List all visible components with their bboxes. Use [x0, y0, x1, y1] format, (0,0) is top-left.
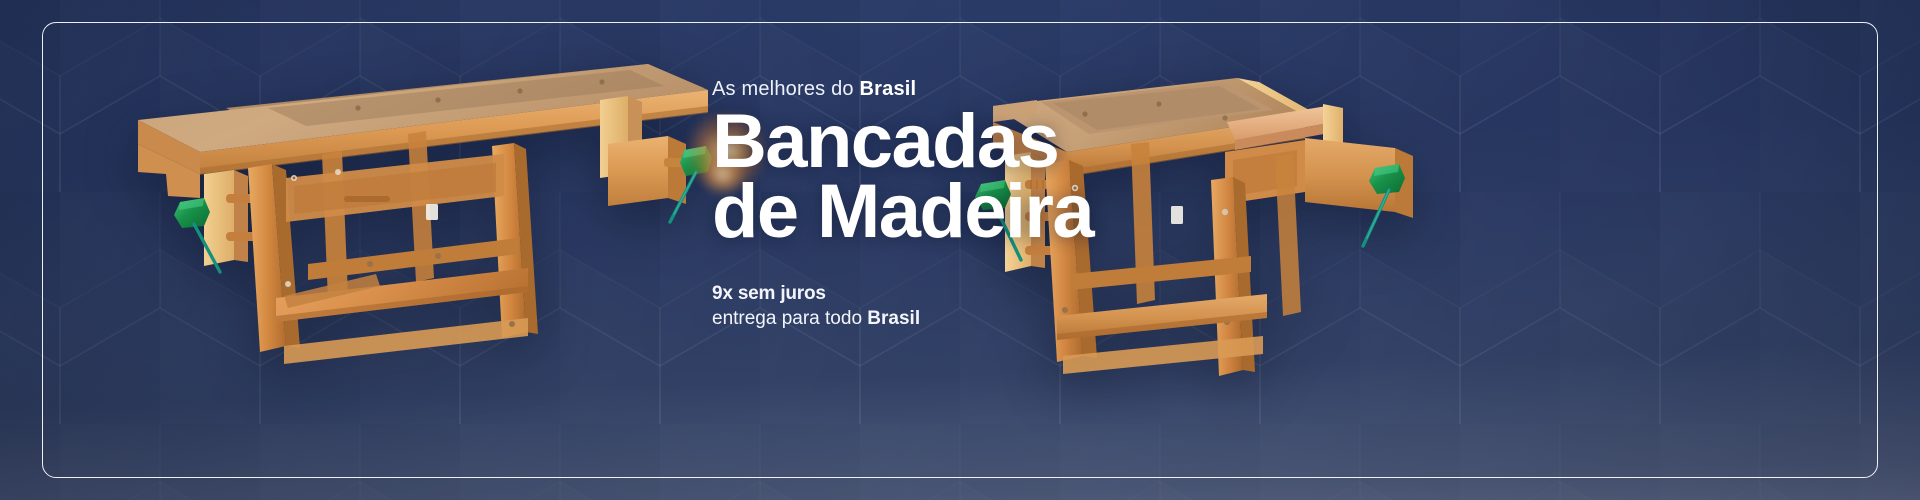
- subcopy-installments: 9x sem juros: [712, 281, 1232, 307]
- headline-line-1: Bancadas: [712, 107, 1232, 177]
- eyebrow-strong: Brasil: [860, 78, 917, 100]
- shipping-strong: Brasil: [867, 308, 920, 329]
- promo-banner[interactable]: As melhores do Brasil Bancadas de Madeir…: [0, 0, 1920, 500]
- subcopy-shipping: entrega para todo Brasil: [712, 306, 1232, 332]
- shipping-prefix: entrega para todo: [712, 308, 867, 329]
- headline-line-2: de Madeira: [712, 177, 1232, 247]
- banner-eyebrow: As melhores do Brasil: [712, 78, 1232, 101]
- product-image-workbench-left[interactable]: [108, 46, 728, 386]
- banner-headline: Bancadas de Madeira: [712, 107, 1232, 247]
- eyebrow-prefix: As melhores do: [712, 78, 860, 100]
- banner-copy-block: As melhores do Brasil Bancadas de Madeir…: [712, 78, 1232, 332]
- banner-subcopy: 9x sem juros entrega para todo Brasil: [712, 281, 1232, 332]
